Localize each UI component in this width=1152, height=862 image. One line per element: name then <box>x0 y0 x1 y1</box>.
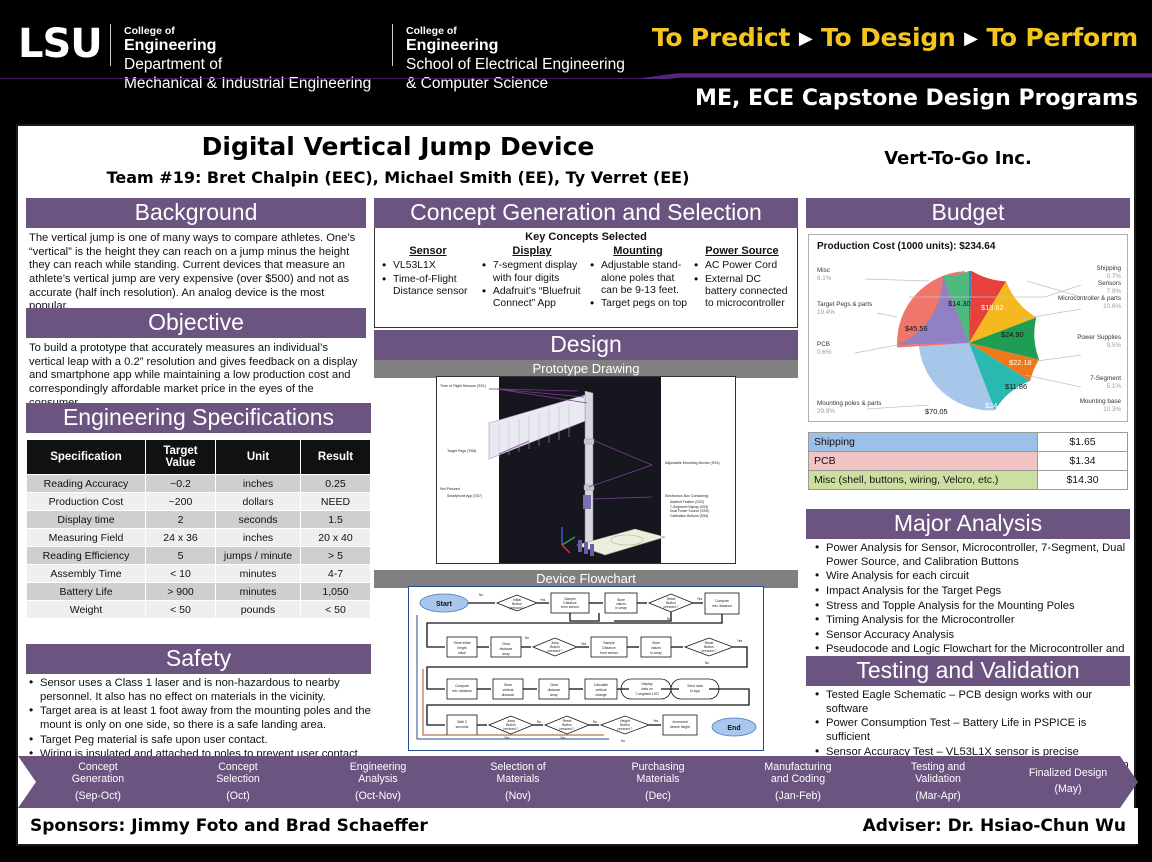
spec-col-target: Target Value <box>146 440 216 475</box>
pie-label-name: Sensors <box>1098 280 1121 288</box>
svg-text:values: values <box>651 646 661 650</box>
budget-label: PCB <box>809 452 1038 471</box>
budget-amount: $1.34 <box>1038 452 1128 471</box>
spec-header-row: Specification Target Value Unit Result <box>27 440 371 475</box>
tagline: To Predict ▶ To Design ▶ To Perform <box>652 23 1138 52</box>
list-item: Impact Analysis for the Target Pegs <box>812 585 1130 599</box>
list-item: External DC battery connected to microco… <box>691 274 793 311</box>
spec-result: NEED <box>301 493 371 511</box>
pie-label-pct: 9.5% <box>1077 342 1121 350</box>
timeline-label2: Materials <box>637 773 680 785</box>
svg-text:Clear: Clear <box>550 683 559 687</box>
timeline-period: (May) <box>998 783 1138 795</box>
pie-label-7segment: 7-Segment 5.1% <box>1090 375 1121 390</box>
spec-target: ~200 <box>146 493 216 511</box>
background-section: Background The vertical jump is one of m… <box>26 198 366 314</box>
pie-label-name: PCB <box>817 341 831 349</box>
major-analysis-list: Power Analysis for Sensor, Microcontroll… <box>806 542 1130 670</box>
svg-text:End: End <box>727 725 740 732</box>
timeline-label1: Testing and <box>911 761 965 773</box>
list-item: Timing Analysis for the Microcontroller <box>812 614 1130 628</box>
list-item: Target pegs on top <box>587 298 689 310</box>
spec-col-unit: Unit <box>216 440 301 475</box>
triangle-right-icon: ▶ <box>799 28 813 49</box>
timeline-period: (Jan-Feb) <box>718 790 878 802</box>
timeline-step-3: Engineering Analysis (Oct-Nov) <box>298 756 458 808</box>
list-item: Time-of-Flight Distance sensor <box>379 274 477 299</box>
svg-text:seconds: seconds <box>456 725 469 729</box>
timeline-step-6: Manufacturing and Coding (Jan-Feb) <box>718 756 878 808</box>
timeline-label2: Validation <box>915 773 961 785</box>
concept-body: Key Concepts Selected Sensor VL53L1X Tim… <box>374 228 798 328</box>
timeline-label1: Manufacturing <box>764 761 831 773</box>
poster-footer: Sponsors: Jimmy Foto and Brad Schaeffer … <box>18 808 1138 844</box>
spec-target: > 900 <box>146 583 216 601</box>
svg-text:change: change <box>595 693 606 697</box>
spec-unit: dollars <box>216 493 301 511</box>
concept-col-title: Sensor <box>379 245 477 257</box>
svg-text:distance: distance <box>502 693 515 697</box>
spec-result: 20 x 40 <box>301 529 371 547</box>
callout-ebox-items: Adafruit Feather (SS2) 7-Segment Display… <box>670 500 709 518</box>
timeline-period: (Oct-Nov) <box>298 790 458 802</box>
safety-section: Safety Sensor uses a Class 1 laser and i… <box>26 644 371 763</box>
design-heading: Design <box>374 330 798 360</box>
svg-text:distance: distance <box>548 688 561 692</box>
svg-text:Yes: Yes <box>540 598 546 602</box>
table-row: Measuring Field 24 x 36 inches 20 x 40 <box>27 529 371 547</box>
svg-text:array: array <box>502 652 510 656</box>
tagline-design: To Design <box>821 23 956 52</box>
dept1-line1: College of <box>124 25 371 37</box>
timeline-step-2: Concept Selection (Oct) <box>158 756 318 808</box>
svg-text:Sample: Sample <box>603 641 615 645</box>
prototype-drawing-image: Time of Flight Sensors (SS1) Target Pegs… <box>436 376 736 564</box>
spec-col-result: Result <box>301 440 371 475</box>
svg-text:pressed ?: pressed ? <box>548 649 563 653</box>
timeline-label2: and Coding <box>771 773 825 785</box>
timeline-label1: Concept <box>78 761 117 773</box>
pie-value-power: $22.18 <box>1009 358 1032 367</box>
svg-text:Clear: Clear <box>502 642 511 646</box>
pie-label-shipping: Shipping 0.7% <box>1096 265 1121 280</box>
company-name: Vert-To-Go Inc. <box>778 148 1138 169</box>
lsu-logo: LSU <box>18 22 98 66</box>
concept-section: Concept Generation and Selection Key Con… <box>374 198 798 328</box>
spec-name: Weight <box>27 601 146 619</box>
objective-heading: Objective <box>26 308 366 338</box>
spec-target: 5 <box>146 547 216 565</box>
budget-section: Budget <box>806 198 1130 228</box>
pie-value-target-pegs: $45.56 <box>905 324 928 333</box>
spec-name: Production Cost <box>27 493 146 511</box>
budget-heading: Budget <box>806 198 1130 228</box>
svg-text:No: No <box>525 636 529 640</box>
svg-text:Send data: Send data <box>687 684 703 688</box>
engineering-specs-heading: Engineering Specifications <box>26 403 371 433</box>
program-title: ME, ECE Capstone Design Programs <box>695 86 1138 111</box>
spec-result: 0.25 <box>301 475 371 493</box>
logo-divider-1 <box>110 24 111 66</box>
pie-label-pct: 19.4% <box>817 309 872 317</box>
svg-text:Store initial: Store initial <box>454 641 471 645</box>
svg-text:array: array <box>550 693 558 697</box>
timeline-step-5: Purchasing Materials (Dec) <box>578 756 738 808</box>
svg-text:distance: distance <box>500 647 513 651</box>
spec-result: 1.5 <box>301 511 371 529</box>
pie-label-name: Shipping <box>1096 265 1121 273</box>
dept2-line1: College of <box>406 25 625 37</box>
svg-text:value: value <box>458 651 466 655</box>
pie-label-pct: 5.1% <box>1090 383 1121 391</box>
timeline-label2: Selection <box>216 773 260 785</box>
list-item: Sensor Accuracy Analysis <box>812 629 1130 643</box>
timeline-label2: Materials <box>497 773 540 785</box>
svg-text:Increment: Increment <box>672 720 687 724</box>
team-members: Team #19: Bret Chalpin (EEC), Michael Sm… <box>18 168 778 187</box>
objective-text: To build a prototype that accurately mea… <box>26 338 366 410</box>
pie-label-name: Mounting base <box>1080 398 1121 406</box>
svg-text:in array: in array <box>650 651 662 655</box>
list-item: Power Analysis for Sensor, Microcontroll… <box>812 542 1130 569</box>
logo-divider-2 <box>392 24 393 66</box>
pie-label-sensors: Sensors 7.9% <box>1098 280 1121 295</box>
svg-text:pressed ?: pressed ? <box>560 727 575 731</box>
table-row: PCB $1.34 <box>809 452 1128 471</box>
svg-text:Yes: Yes <box>653 719 659 723</box>
spec-result: > 5 <box>301 547 371 565</box>
svg-text:Compute: Compute <box>715 599 729 603</box>
concept-column-display: Display 7-segment display with four digi… <box>479 245 585 312</box>
concept-columns: Sensor VL53L1X Time-of-Flight Distance s… <box>379 245 793 312</box>
table-row: Production Cost ~200 dollars NEED <box>27 493 371 511</box>
svg-text:from sensor: from sensor <box>561 605 580 609</box>
timeline-period: (Oct) <box>158 790 318 802</box>
callout-not-pictured-item: Smartphone App (SS7) <box>447 494 482 498</box>
budget-label: Shipping <box>809 433 1038 452</box>
sponsors-text: Sponsors: Jimmy Foto and Brad Schaeffer <box>30 816 428 836</box>
adviser-text: Adviser: Dr. Hsiao-Chun Wu <box>863 816 1126 836</box>
poster-body: Digital Vertical Jump Device Team #19: B… <box>16 124 1136 846</box>
svg-text:No: No <box>537 720 541 724</box>
callout-mount: Adjustable Mounting Device (SS4) <box>665 461 735 466</box>
svg-text:pressed ?: pressed ? <box>664 605 679 609</box>
svg-text:Display: Display <box>641 682 652 686</box>
svg-text:No: No <box>667 617 671 621</box>
concept-col-title: Power Source <box>691 245 793 257</box>
list-item: Wire Analysis for each circuit <box>812 570 1130 584</box>
pie-label-power-supplies: Power Supplies 9.5% <box>1077 334 1121 349</box>
table-row: Display time 2 seconds 1.5 <box>27 511 371 529</box>
spec-name: Display time <box>27 511 146 529</box>
svg-text:No: No <box>479 593 483 597</box>
list-item: Adjustable stand-alone poles that can be… <box>587 260 689 297</box>
pie-label-microcontroller: Microcontroller & parts 10.6% <box>1058 295 1121 310</box>
pie-label-mounting-base: Mounting base 10.3% <box>1080 398 1121 413</box>
list-item: Tested Eagle Schematic – PCB design work… <box>812 689 1130 716</box>
list-item: VL53L1X <box>379 260 477 272</box>
objective-section: Objective To build a prototype that accu… <box>26 308 366 410</box>
table-row: Reading Accuracy ~0.2 inches 0.25 <box>27 475 371 493</box>
timeline-step-7: Testing and Validation (Mar-Apr) <box>858 756 1018 808</box>
pie-label-pcb: PCB 0.6% <box>817 341 831 356</box>
spec-result: 1,050 <box>301 583 371 601</box>
major-analysis-heading: Major Analysis <box>806 509 1130 539</box>
spec-target: ~0.2 <box>146 475 216 493</box>
svg-text:min. distance: min. distance <box>712 604 732 608</box>
pie-label-name: Mounting poles & parts <box>817 400 881 408</box>
spec-target: 24 x 36 <box>146 529 216 547</box>
background-text: The vertical jump is one of many ways to… <box>26 228 366 314</box>
key-concepts-subheading: Key Concepts Selected <box>379 231 793 243</box>
pie-svg <box>809 235 1129 423</box>
pie-label-pct: 6.1% <box>817 275 831 283</box>
spec-unit: minutes <box>216 583 301 601</box>
table-row: Assembly Time < 10 minutes 4-7 <box>27 565 371 583</box>
concept-column-sensor: Sensor VL53L1X Time-of-Flight Distance s… <box>379 245 477 312</box>
table-row: Weight < 50 pounds < 50 <box>27 601 371 619</box>
spec-name: Reading Accuracy <box>27 475 146 493</box>
svg-text:pressed ?: pressed ? <box>618 727 633 731</box>
pie-label-pct: 0.7% <box>1096 273 1121 281</box>
ebox-item: Adafruit Feather (SS2) <box>670 500 709 505</box>
list-item: Power Consumption Test – Battery Life in… <box>812 717 1130 744</box>
pie-label-misc: Misc 6.1% <box>817 267 831 282</box>
safety-heading: Safety <box>26 644 371 674</box>
timeline-step-1: Concept Generation (Sep-Oct) <box>18 756 178 808</box>
pie-label-pct: 10.6% <box>1058 303 1121 311</box>
spec-target: < 50 <box>146 601 216 619</box>
engineering-specs-section: Engineering Specifications Specification… <box>26 403 371 619</box>
pie-label-pct: 29.9% <box>817 408 881 416</box>
table-row: Battery Life > 900 minutes 1,050 <box>27 583 371 601</box>
budget-label: Misc (shell, buttons, wiring, Velcro, et… <box>809 471 1038 490</box>
pie-value-mounting-poles: $70.05 <box>925 407 948 416</box>
callout-not-pictured: Not Pictured <box>440 487 460 491</box>
pie-value-sensors: $18.62 <box>981 303 1004 312</box>
list-item: 7-segment display with four digits <box>479 260 585 285</box>
list-item: Target Peg material is safe upon user co… <box>26 734 371 748</box>
concept-col-title: Mounting <box>587 245 689 257</box>
svg-text:Store: Store <box>504 683 512 687</box>
pie-label-pct: 0.6% <box>817 349 831 357</box>
concept-column-power: Power Source AC Power Cord External DC b… <box>691 245 793 312</box>
device-flowchart-image: InitialButtonpressed ? SampleDistancefro… <box>408 586 764 751</box>
table-row: Misc (shell, buttons, wiring, Velcro, et… <box>809 471 1128 490</box>
spec-col-specification: Specification <box>27 440 146 475</box>
svg-text:device height: device height <box>670 725 690 729</box>
engineering-specs-table: Specification Target Value Unit Result R… <box>26 439 371 619</box>
spec-unit: pounds <box>216 601 301 619</box>
table-row: Reading Efficiency 5 jumps / minute > 5 <box>27 547 371 565</box>
svg-text:vertical: vertical <box>503 688 514 692</box>
spec-name: Assembly Time <box>27 565 146 583</box>
list-item: Stress and Topple Analysis for the Mount… <box>812 600 1130 614</box>
timeline-period: (Mar-Apr) <box>858 790 1018 802</box>
svg-text:No: No <box>593 720 597 724</box>
pie-label-name: Microcontroller & parts <box>1058 295 1121 303</box>
svg-text:pressed ?: pressed ? <box>702 649 717 653</box>
svg-text:vertical: vertical <box>596 688 607 692</box>
timeline-label1: Finalized Design <box>1029 767 1107 779</box>
tagline-predict: To Predict <box>652 23 790 52</box>
spec-name: Reading Efficiency <box>27 547 146 565</box>
list-item: Sensor uses a Class 1 laser and is non-h… <box>26 677 371 704</box>
callout-sensors: Time of Flight Sensors (SS1) <box>440 384 486 389</box>
timeline-label2: Generation <box>72 773 124 785</box>
dept1-line2: Engineering <box>124 37 371 55</box>
callout-pegs: Target Pegs (SS6) <box>447 449 476 453</box>
svg-text:Start: Start <box>436 601 453 608</box>
spec-result: < 50 <box>301 601 371 619</box>
svg-text:Distance: Distance <box>602 646 615 650</box>
svg-text:No: No <box>621 739 625 743</box>
timeline-label1: Purchasing <box>632 761 685 773</box>
svg-text:Calculate: Calculate <box>594 683 608 687</box>
svg-text:pressed ?: pressed ? <box>510 606 525 610</box>
spec-target: < 10 <box>146 565 216 583</box>
dept-electrical-block: College of Engineering School of Electri… <box>406 25 625 93</box>
svg-text:Yes: Yes <box>737 639 743 643</box>
pie-value-mounting-base: $24.12 <box>985 401 1008 410</box>
svg-text:data on: data on <box>641 687 652 691</box>
timeline-label2: Analysis <box>358 773 397 785</box>
concept-col-title: Display <box>479 245 585 257</box>
spec-unit: seconds <box>216 511 301 529</box>
svg-text:Wait 3: Wait 3 <box>457 720 467 724</box>
spec-unit: inches <box>216 475 301 493</box>
budget-pie-chart: Production Cost (1000 units): $234.64 <box>808 234 1128 422</box>
tagline-perform: To Perform <box>986 23 1138 52</box>
budget-amount: $1.65 <box>1038 433 1128 452</box>
svg-text:from sensor: from sensor <box>600 651 619 655</box>
timeline-period: (Sep-Oct) <box>18 790 178 802</box>
prototype-svg <box>437 377 736 564</box>
svg-text:to App: to App <box>690 689 700 693</box>
svg-text:Compute: Compute <box>455 684 469 688</box>
project-timeline: Concept Generation (Sep-Oct) Concept Sel… <box>18 756 1138 808</box>
svg-text:height: height <box>457 646 466 650</box>
design-section: Design Prototype Drawing <box>374 330 798 378</box>
page-header: LSU College of Engineering Department of… <box>0 0 1152 125</box>
budget-amount: $14.30 <box>1038 471 1128 490</box>
list-item: Target area is at least 1 foot away from… <box>26 705 371 732</box>
spec-result: 4-7 <box>301 565 371 583</box>
spec-unit: minutes <box>216 565 301 583</box>
major-analysis-section: Major Analysis Power Analysis for Sensor… <box>806 509 1130 671</box>
pie-label-name: 7-Segment <box>1090 375 1121 383</box>
svg-text:Yes: Yes <box>697 597 703 601</box>
budget-table: Shipping $1.65 PCB $1.34 Misc (shell, bu… <box>808 432 1128 490</box>
concept-heading: Concept Generation and Selection <box>374 198 798 228</box>
pie-label-mounting-poles: Mounting poles & parts 29.9% <box>817 400 881 415</box>
header-purple-rule <box>0 72 1152 79</box>
timeline-step-8: Finalized Design (May) <box>998 756 1138 808</box>
pie-label-name: Power Supplies <box>1077 334 1121 342</box>
pie-label-name: Target Pegs & parts <box>817 301 872 309</box>
spec-name: Battery Life <box>27 583 146 601</box>
spec-target: 2 <box>146 511 216 529</box>
pie-value-microcontroller: $24.90 <box>1001 330 1024 339</box>
pie-value-misc: $14.30 <box>948 299 971 308</box>
timeline-step-4: Selection of Materials (Nov) <box>438 756 598 808</box>
ebox-item: Calibration Buttons (SS6) <box>670 514 709 519</box>
testing-heading: Testing and Validation <box>806 656 1130 686</box>
svg-text:Yes: Yes <box>581 642 587 646</box>
timeline-label1: Concept <box>218 761 257 773</box>
background-heading: Background <box>26 198 366 228</box>
timeline-label1: Engineering <box>350 761 407 773</box>
svg-text:Store: Store <box>652 641 660 645</box>
svg-text:Yes: Yes <box>504 736 510 740</box>
dept2-line2: Engineering <box>406 37 625 55</box>
svg-text:7-segment LED: 7-segment LED <box>635 692 659 696</box>
list-item: AC Power Cord <box>691 260 793 272</box>
pie-label-target-pegs: Target Pegs & parts 19.4% <box>817 301 872 316</box>
concept-column-mounting: Mounting Adjustable stand-alone poles th… <box>587 245 689 312</box>
callout-ebox-title: Electronics Box Containing: <box>665 494 709 498</box>
spec-name: Measuring Field <box>27 529 146 547</box>
timeline-period: (Dec) <box>578 790 738 802</box>
safety-list: Sensor uses a Class 1 laser and is non-h… <box>26 677 371 762</box>
svg-text:pressed ?: pressed ? <box>504 727 519 731</box>
svg-text:in array: in array <box>615 606 627 610</box>
svg-text:min. distance: min. distance <box>452 689 472 693</box>
list-item: Adafruit’s “Bluefruit Connect” App <box>479 286 585 311</box>
pie-label-pct: 7.9% <box>1098 288 1121 296</box>
table-row: Shipping $1.65 <box>809 433 1128 452</box>
pie-label-name: Misc <box>817 267 831 275</box>
timeline-label1: Selection of <box>490 761 545 773</box>
flowchart-svg: InitialButtonpressed ? SampleDistancefro… <box>409 587 764 751</box>
spec-unit: inches <box>216 529 301 547</box>
dept-mechanical-block: College of Engineering Department of Mec… <box>124 25 371 93</box>
page-title: Digital Vertical Jump Device <box>18 132 778 161</box>
pie-label-pct: 10.3% <box>1080 406 1121 414</box>
svg-text:Yes: Yes <box>560 736 566 740</box>
triangle-right-icon-2: ▶ <box>964 28 978 49</box>
svg-text:No: No <box>705 661 709 665</box>
spec-unit: jumps / minute <box>216 547 301 565</box>
pie-value-7segment: $11.86 <box>1005 382 1027 391</box>
timeline-period: (Nov) <box>438 790 598 802</box>
